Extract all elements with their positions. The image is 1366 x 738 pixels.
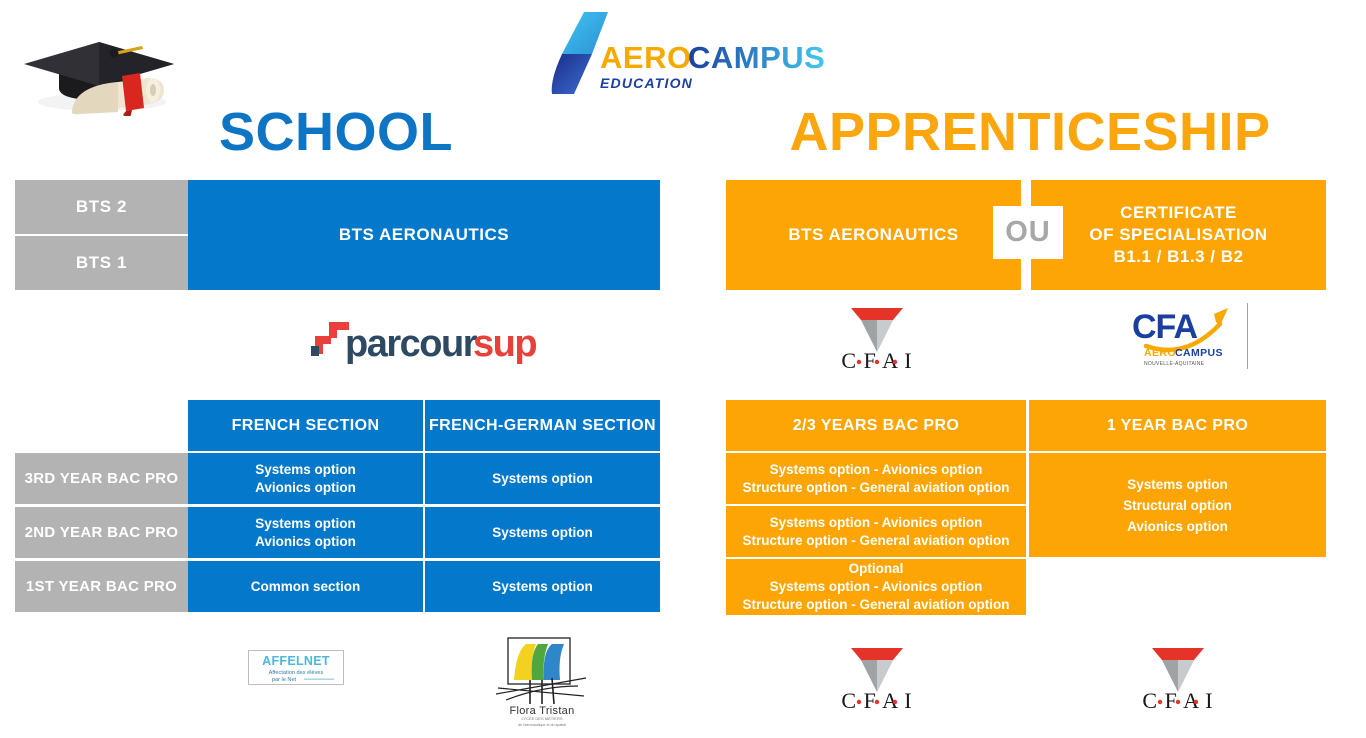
cfai-logo: C F A I bbox=[823, 300, 931, 372]
svg-text:Affectation des élèves: Affectation des élèves bbox=[269, 670, 324, 676]
flora-tristan-logo: Flora Tristan LYCÉE DES MÉTIERS de l'aér… bbox=[486, 634, 598, 734]
table-row-label-1st-year: 1ST YEAR BAC PRO bbox=[15, 561, 188, 612]
table-cell-2nd-french: Systems option Avionics option bbox=[188, 507, 423, 558]
svg-text:AFFELNET: AFFELNET bbox=[262, 654, 330, 668]
svg-text:CAMPUS: CAMPUS bbox=[688, 40, 825, 75]
bts2-label: BTS 2 bbox=[15, 180, 188, 234]
affelnet-logo: AFFELNET Affectation des élèves par le N… bbox=[248, 650, 344, 685]
ou-connector-badge: OU bbox=[993, 206, 1063, 259]
table-row-label-3rd-year: 3RD YEAR BAC PRO bbox=[15, 453, 188, 504]
table-cell-3rd-french: Systems option Avionics option bbox=[188, 453, 423, 504]
table-cell-1st-french: Common section bbox=[188, 561, 423, 612]
svg-text:AERO: AERO bbox=[1144, 347, 1176, 359]
certificate-line-3: B1.1 / B1.3 / B2 bbox=[1089, 246, 1267, 268]
table-cell-2nd-french-german: Systems option bbox=[425, 507, 660, 558]
svg-text:sup: sup bbox=[473, 323, 536, 364]
bts-aeronautics-apprenticeship-block: BTS AERONAUTICS bbox=[726, 180, 1021, 290]
bts1-label: BTS 1 bbox=[15, 236, 188, 290]
cell-line: Avionics option bbox=[255, 479, 356, 497]
infographic-page: AERO CAMPUS EDUCATION SCHOOL APPRENTICES… bbox=[0, 0, 1366, 738]
table-cell-1-year-bac-pro-options: Systems option Structural option Avionic… bbox=[1029, 453, 1326, 557]
svg-text:AERO: AERO bbox=[600, 40, 692, 75]
table-header-1-year-bac-pro: 1 YEAR BAC PRO bbox=[1029, 400, 1326, 451]
parcoursup-logo: parcour sup bbox=[305, 316, 545, 364]
svg-text:de l'aéronautique et du spatia: de l'aéronautique et du spatial bbox=[518, 723, 566, 727]
svg-text:NOUVELLE-AQUITAINE: NOUVELLE-AQUITAINE bbox=[1144, 361, 1205, 367]
cell-line: Systems option - Avionics option bbox=[742, 578, 1009, 596]
table-header-french-section: FRENCH SECTION bbox=[188, 400, 423, 451]
cell-line: Avionics option bbox=[1123, 516, 1232, 537]
svg-text:par le Net: par le Net bbox=[272, 677, 297, 683]
table-row-label-2nd-year: 2ND YEAR BAC PRO bbox=[15, 507, 188, 558]
cell-line: Systems option bbox=[492, 470, 593, 488]
table-header-23-years-bac-pro: 2/3 YEARS BAC PRO bbox=[726, 400, 1026, 451]
cell-line: Systems option bbox=[492, 578, 593, 596]
cell-line: Structural option bbox=[1123, 495, 1232, 516]
certificate-line-2: OF SPECIALISATION bbox=[1089, 224, 1267, 246]
apprenticeship-column-title: APPRENTICESHIP bbox=[694, 105, 1366, 159]
table-cell-appr-row1: Systems option - Avionics option Structu… bbox=[726, 453, 1026, 504]
svg-text:CFA: CFA bbox=[1132, 308, 1197, 346]
table-cell-3rd-french-german: Systems option bbox=[425, 453, 660, 504]
cell-line: Systems option bbox=[255, 461, 356, 479]
cell-line: Optional bbox=[742, 560, 1009, 578]
cell-line: Systems option bbox=[492, 524, 593, 542]
cfai-logo: C F A I bbox=[1124, 640, 1232, 712]
certificate-of-specialisation-block: CERTIFICATE OF SPECIALISATION B1.1 / B1.… bbox=[1031, 180, 1326, 290]
cfa-aerocampus-logo: CFA AERO CAMPUS NOUVELLE-AQUITAINE bbox=[1128, 302, 1238, 370]
graduation-cap-icon bbox=[14, 16, 184, 116]
cell-line: Systems option - Avionics option bbox=[742, 514, 1009, 532]
cell-line: Systems option bbox=[1123, 474, 1232, 495]
svg-text:CAMPUS: CAMPUS bbox=[1175, 347, 1223, 359]
cell-line: Structure option - General aviation opti… bbox=[742, 479, 1009, 497]
aerocampus-logo: AERO CAMPUS EDUCATION bbox=[548, 10, 838, 96]
cell-line: Structure option - General aviation opti… bbox=[742, 596, 1009, 614]
table-cell-appr-row3: Optional Systems option - Avionics optio… bbox=[726, 559, 1026, 615]
logo-divider bbox=[1247, 303, 1248, 369]
cfai-logo: C F A I bbox=[823, 640, 931, 712]
cell-line: Systems option bbox=[255, 515, 356, 533]
svg-text:LYCÉE DES MÉTIERS: LYCÉE DES MÉTIERS bbox=[521, 716, 562, 721]
svg-text:EDUCATION: EDUCATION bbox=[600, 75, 693, 91]
cell-line: Structure option - General aviation opti… bbox=[742, 532, 1009, 550]
school-column-title: SCHOOL bbox=[0, 105, 672, 159]
cell-line: Avionics option bbox=[255, 533, 356, 551]
table-cell-1st-french-german: Systems option bbox=[425, 561, 660, 612]
certificate-line-1: CERTIFICATE bbox=[1089, 202, 1267, 224]
svg-text:parcour: parcour bbox=[345, 323, 478, 364]
table-header-french-german-section: FRENCH-GERMAN SECTION bbox=[425, 400, 660, 451]
bts-aeronautics-school-block: BTS AERONAUTICS bbox=[188, 180, 660, 290]
cell-line: Common section bbox=[251, 578, 361, 596]
cell-line: Systems option - Avionics option bbox=[742, 461, 1009, 479]
table-cell-appr-row2: Systems option - Avionics option Structu… bbox=[726, 506, 1026, 557]
